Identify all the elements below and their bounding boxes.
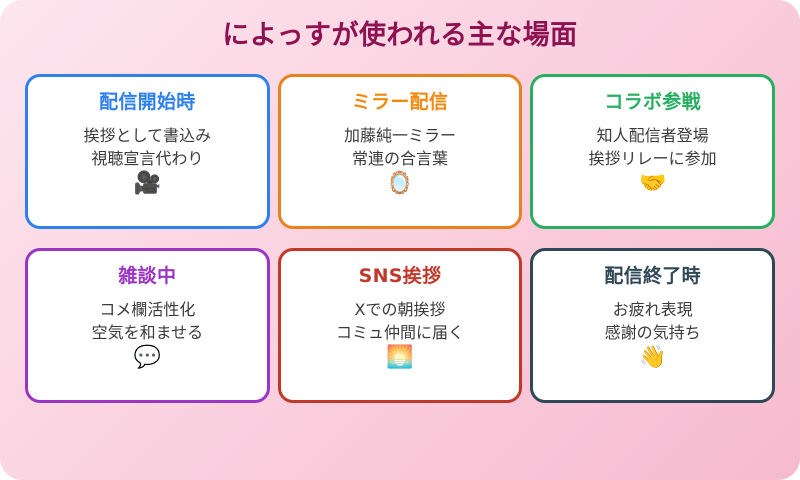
scene-card-5-line2: コミュ仲間に届く bbox=[336, 321, 464, 344]
waving-hand-icon: 👋 bbox=[639, 347, 666, 369]
scene-card-4: 雑談中 コメ欄活性化 空気を和ませる 💬 bbox=[25, 248, 270, 403]
scene-card-4-title: 雑談中 bbox=[118, 265, 176, 288]
scene-card-2-line2: 常連の合言葉 bbox=[344, 147, 456, 170]
scene-card-5-line1: Xでの朝挨拶 bbox=[336, 298, 464, 321]
movie-camera-icon: 🎥 bbox=[134, 173, 161, 195]
scene-card-3: コラボ参戦 知人配信者登場 挨拶リレーに参加 🤝 bbox=[530, 74, 775, 229]
scene-card-1-title: 配信開始時 bbox=[99, 91, 196, 114]
sunrise-icon: 🌅 bbox=[386, 347, 413, 369]
scene-card-5: SNS挨拶 Xでの朝挨拶 コミュ仲間に届く 🌅 bbox=[278, 248, 523, 403]
scene-card-6: 配信終了時 お疲れ表現 感謝の気持ち 👋 bbox=[530, 248, 775, 403]
scene-card-6-line1: お疲れ表現 bbox=[605, 298, 701, 321]
handshake-icon: 🤝 bbox=[639, 173, 666, 195]
scene-card-1-line1: 挨拶として書込み bbox=[84, 124, 212, 147]
scene-card-6-body: お疲れ表現 感謝の気持ち bbox=[605, 298, 701, 344]
infographic-canvas: によっすが使われる主な場面 配信開始時 挨拶として書込み 視聴宣言代わり 🎥 ミ… bbox=[0, 0, 800, 480]
scene-card-3-title: コラボ参戦 bbox=[604, 91, 701, 114]
page-title: によっすが使われる主な場面 bbox=[222, 20, 577, 52]
scene-card-6-line2: 感謝の気持ち bbox=[605, 321, 701, 344]
scene-card-2-title: ミラー配信 bbox=[352, 91, 449, 114]
scene-card-4-line1: コメ欄活性化 bbox=[92, 298, 204, 321]
card-grid: 配信開始時 挨拶として書込み 視聴宣言代わり 🎥 ミラー配信 加藤純一ミラー 常… bbox=[25, 74, 775, 403]
scene-card-1: 配信開始時 挨拶として書込み 視聴宣言代わり 🎥 bbox=[25, 74, 270, 229]
scene-card-2-line1: 加藤純一ミラー bbox=[344, 124, 456, 147]
scene-card-1-line2: 視聴宣言代わり bbox=[84, 147, 212, 170]
mirror-icon: 🪞 bbox=[386, 173, 413, 195]
scene-card-5-title: SNS挨拶 bbox=[359, 265, 442, 288]
scene-card-4-body: コメ欄活性化 空気を和ませる bbox=[92, 298, 204, 344]
scene-card-3-line2: 挨拶リレーに参加 bbox=[589, 147, 717, 170]
speech-balloon-icon: 💬 bbox=[134, 347, 161, 369]
scene-card-4-line2: 空気を和ませる bbox=[92, 321, 204, 344]
scene-card-1-body: 挨拶として書込み 視聴宣言代わり bbox=[84, 124, 212, 170]
scene-card-5-body: Xでの朝挨拶 コミュ仲間に届く bbox=[336, 298, 464, 344]
scene-card-3-body: 知人配信者登場 挨拶リレーに参加 bbox=[589, 124, 717, 170]
scene-card-2-body: 加藤純一ミラー 常連の合言葉 bbox=[344, 124, 456, 170]
scene-card-6-title: 配信終了時 bbox=[604, 265, 701, 288]
scene-card-3-line1: 知人配信者登場 bbox=[589, 124, 717, 147]
scene-card-2: ミラー配信 加藤純一ミラー 常連の合言葉 🪞 bbox=[278, 74, 523, 229]
